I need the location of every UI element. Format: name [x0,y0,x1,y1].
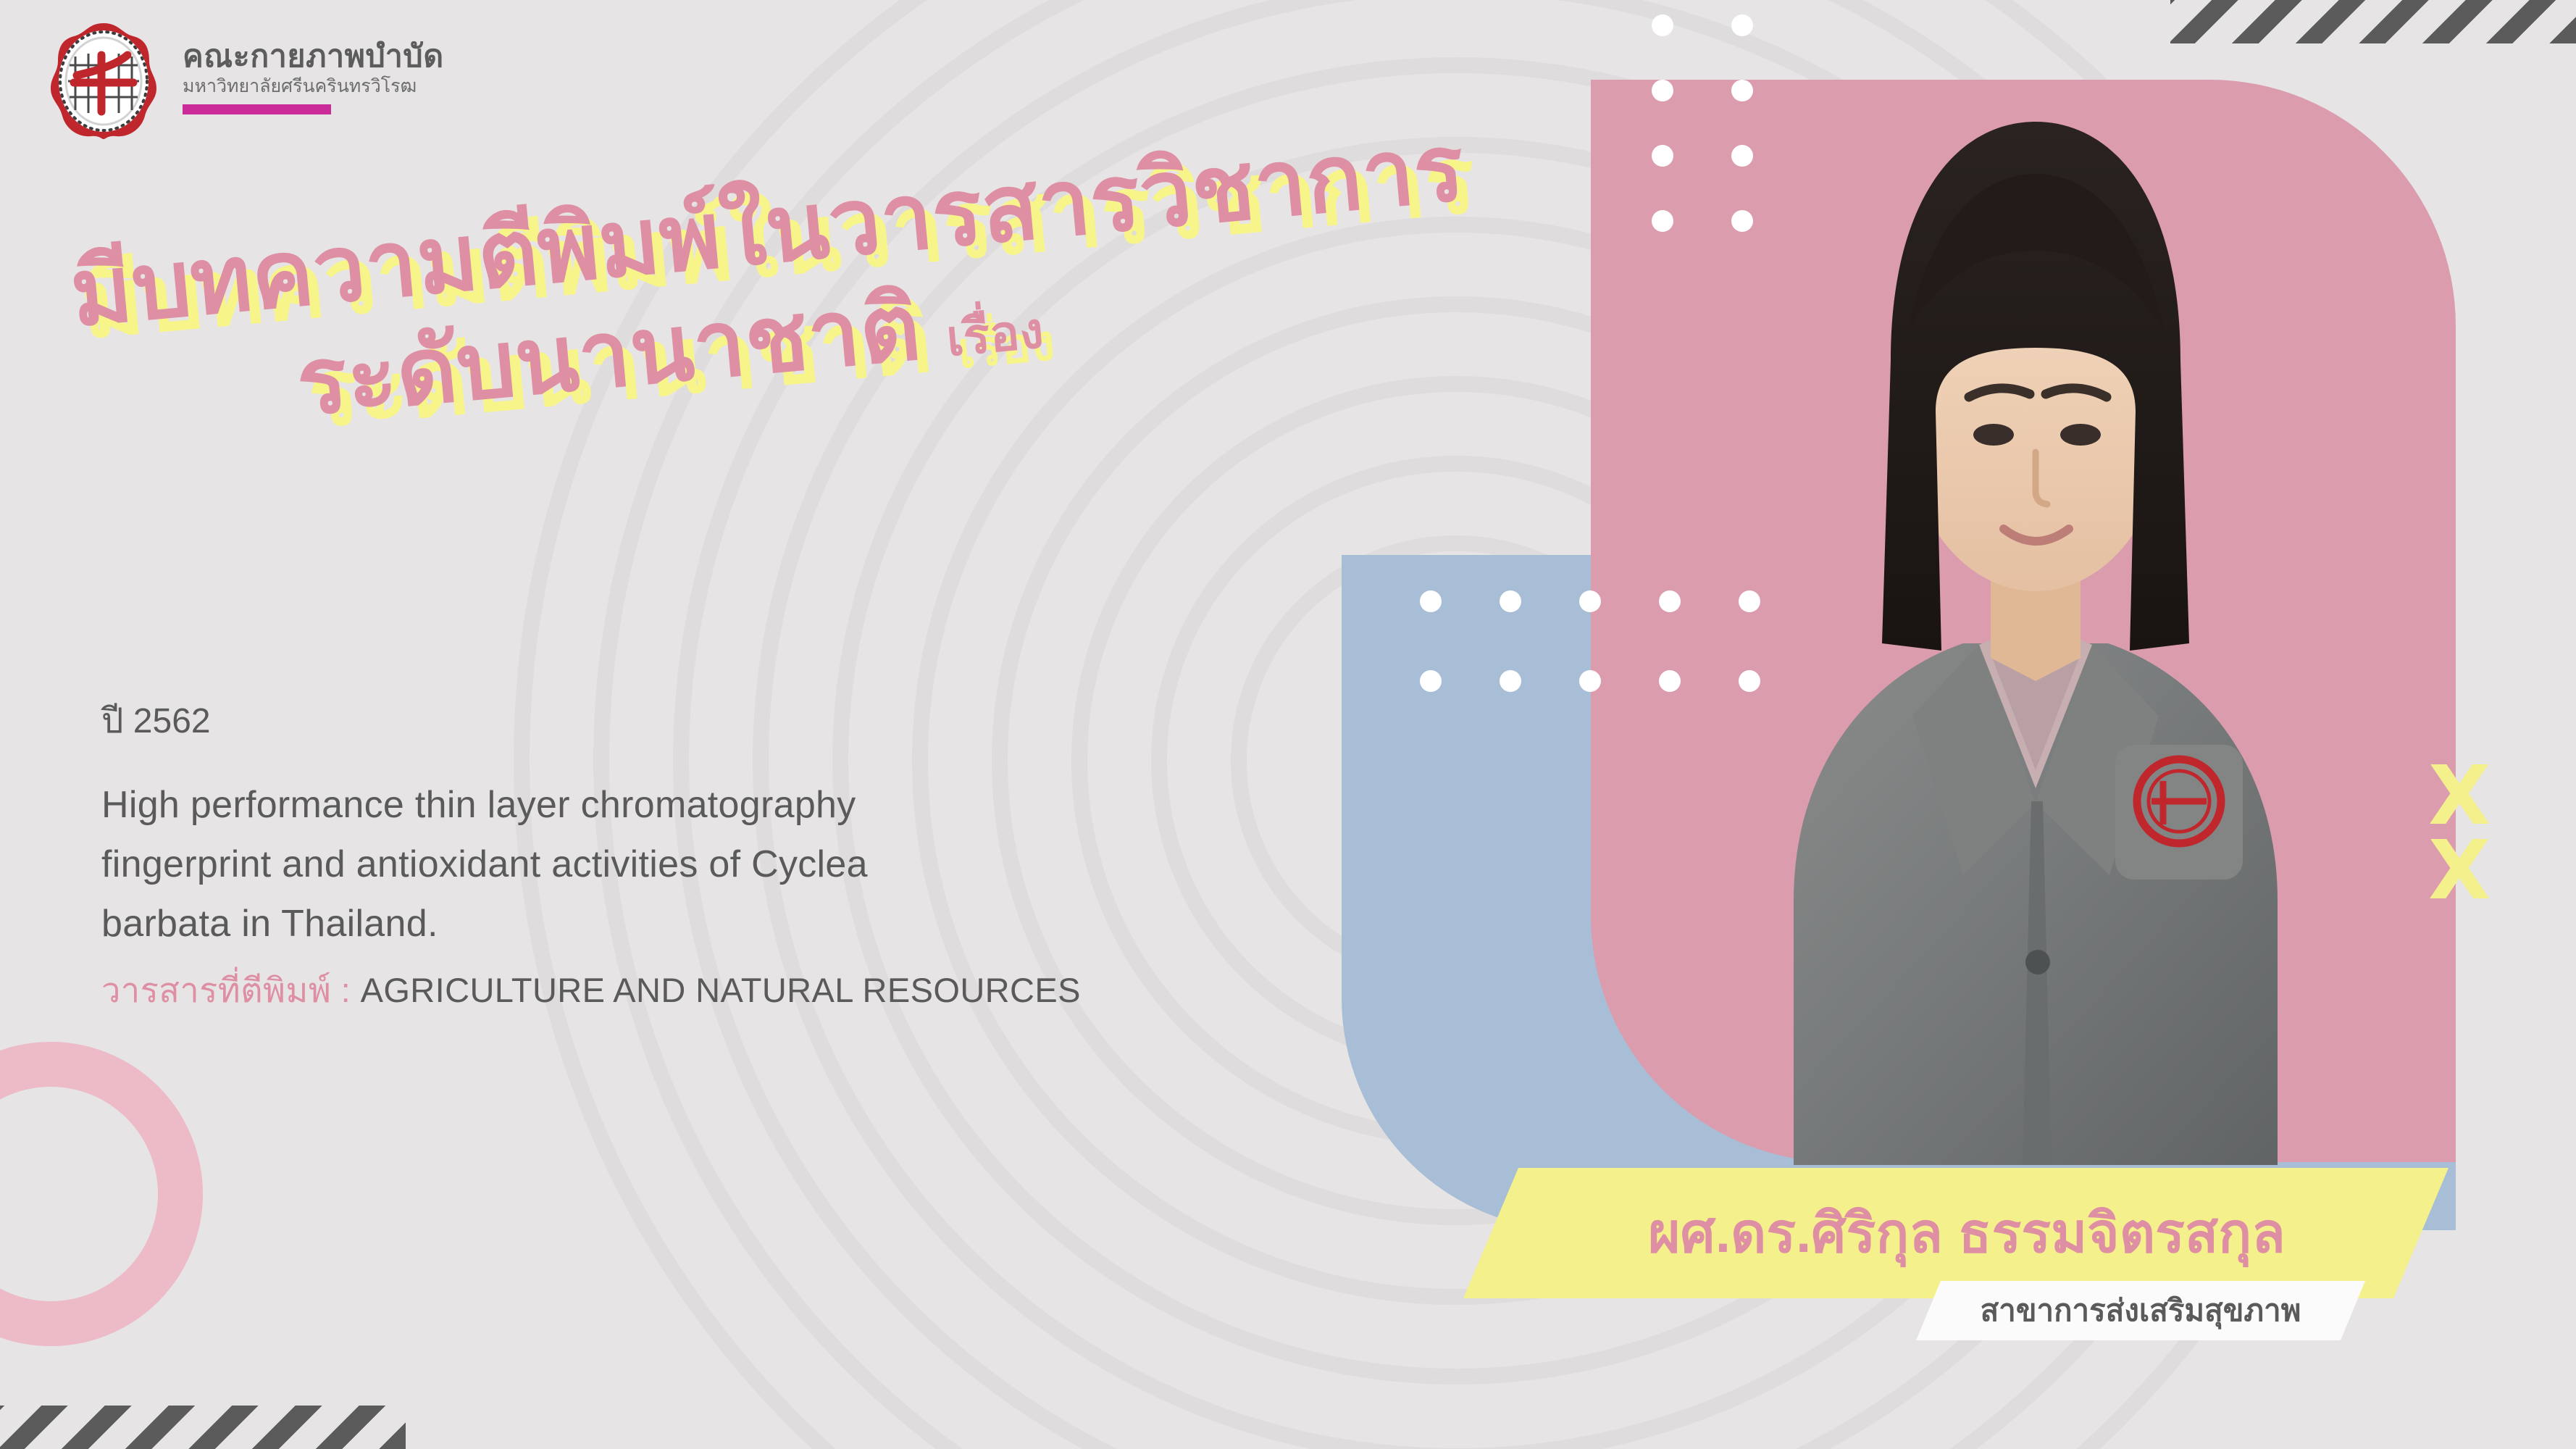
article-details-block: ปี 2562 High performance thin layer chro… [101,696,1347,1016]
x-marks-decoration: X X [2428,759,2491,909]
dot [1500,590,1521,612]
publication-year: ปี 2562 [101,696,1347,748]
university-name: มหาวิทยาลัยศรีนครินทรวิโรฒ [183,75,444,97]
dot-grid-middle [1420,590,1818,750]
dot [1659,590,1681,612]
paper-title-line: barbata in Thailand. [101,894,1347,953]
x-mark-icon: X [2428,759,2491,834]
dot [1579,590,1601,612]
dot [1420,670,1442,692]
headline-block: มีบทความตีพิมพ์ในวารสารวิชาการ ระดับนานา… [66,105,1565,458]
dot [1659,670,1681,692]
dot [1420,590,1442,612]
person-department-banner: สาขาการส่งเสริมสุขภาพ [1916,1281,2365,1340]
journal-line: วารสารที่ตีพิมพ์ : AGRICULTURE AND NATUR… [101,965,1347,1016]
dot [1739,670,1760,692]
dot [1739,590,1760,612]
headline-line-2-small: เรื่อง [944,303,1045,367]
poster-canvas: X X คณะกายภาพบำบัด มหาวิทยาลัยศรีนครินทร… [0,0,2576,1449]
pink-ring-decoration [0,1042,203,1346]
journal-label: วารสารที่ตีพิมพ์ : [101,971,351,1009]
faculty-logo-block: คณะกายภาพบำบัด มหาวิทยาลัยศรีนครินทรวิโร… [43,20,444,141]
paper-title-line: High performance thin layer chromatograp… [101,775,1347,835]
diagonal-stripes-bottom-left [0,1406,406,1449]
person-department: สาขาการส่งเสริมสุขภาพ [1981,1287,2301,1335]
logo-underline [183,104,331,114]
logo-text-block: คณะกายภาพบำบัด มหาวิทยาลัยศรีนครินทรวิโร… [183,20,444,114]
journal-name: AGRICULTURE AND NATURAL RESOURCES [361,971,1081,1009]
person-name: ผศ.ดร.ศิริกุล ธรรมจิตรสกุล [1626,1190,2286,1277]
x-mark-icon: X [2428,834,2491,909]
person-name-banner: ผศ.ดร.ศิริกุล ธรรมจิตรสกุล [1463,1168,2449,1298]
paper-title-line: fingerprint and antioxidant activities o… [101,835,1347,894]
faculty-name: คณะกายภาพบำบัด [183,39,444,74]
seal-emblem-icon [43,20,164,141]
dot [1579,670,1601,692]
dot [1500,670,1521,692]
